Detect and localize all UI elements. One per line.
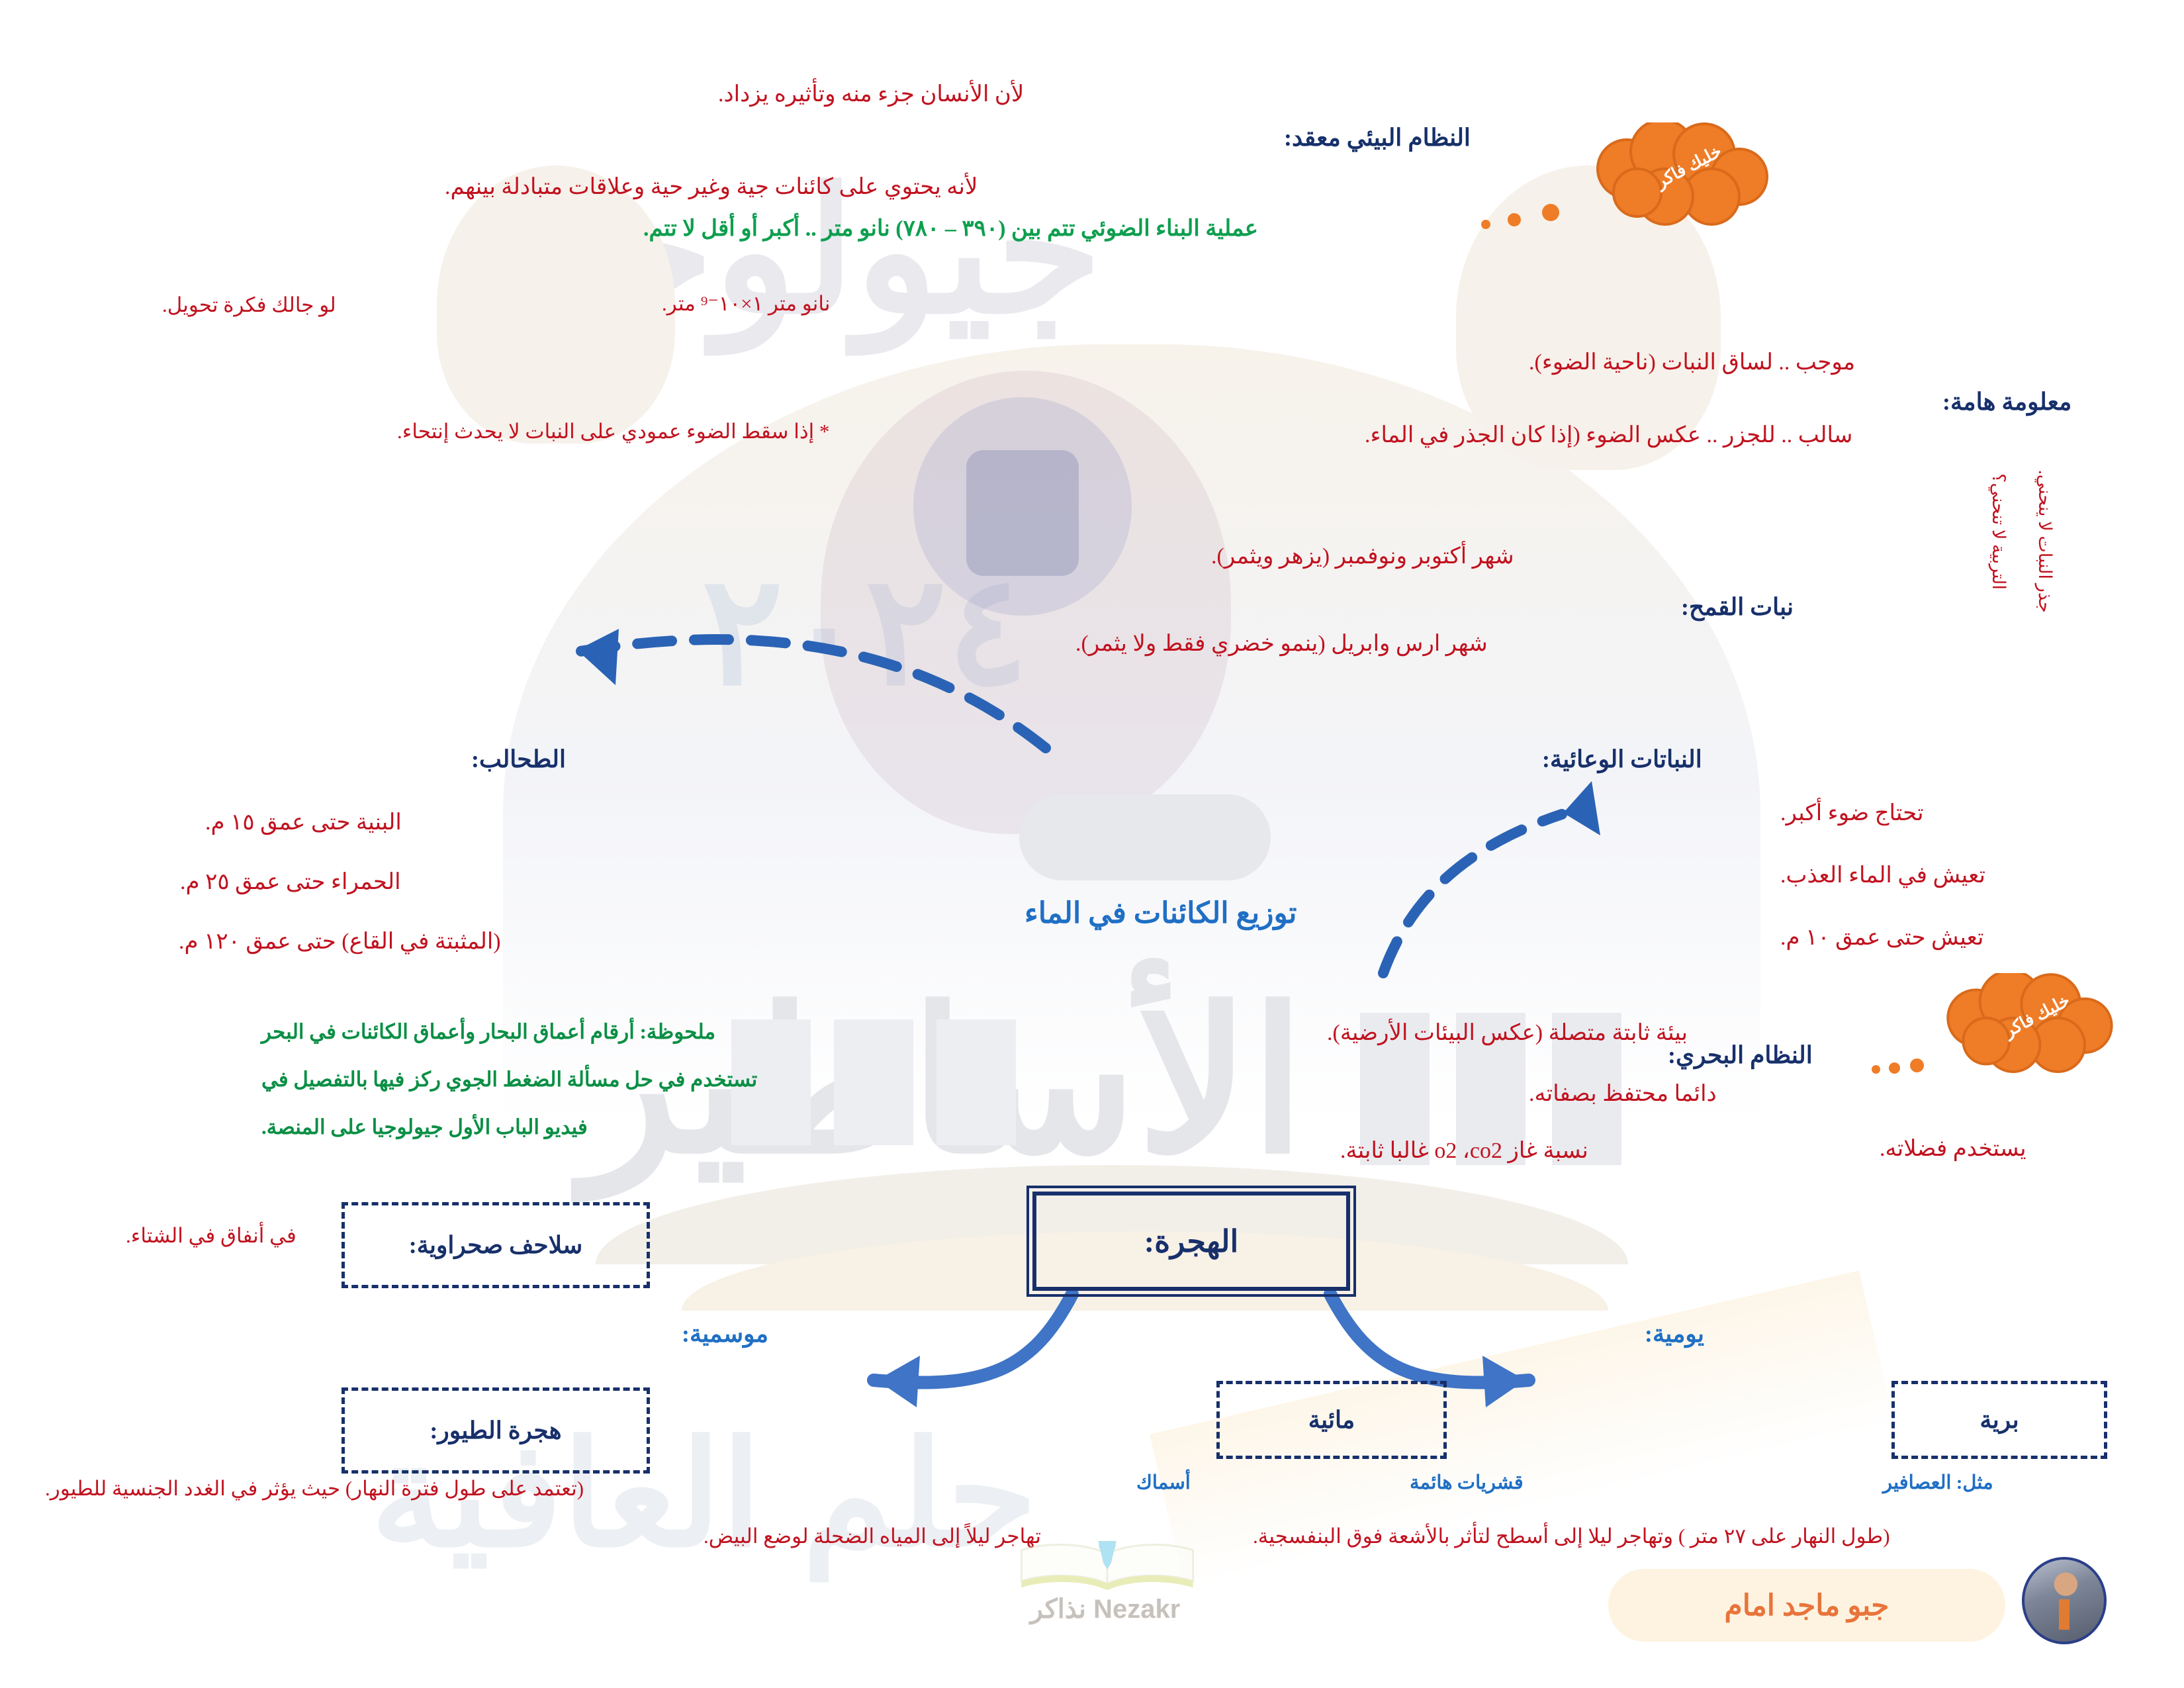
nezakr-logo: Nezakr نذاكر [999,1523,1264,1675]
vascular-fresh-water: تعيش في الماء العذب. [1780,862,1985,890]
note-nanometer: نانو متر ١×١٠‏⁻⁹ متر. [662,291,831,317]
heading-important-info: معلومة هامة: [1942,387,2071,417]
avatar-tie [2059,1599,2070,1630]
author-avatar [2022,1557,2107,1644]
wheat-mar-apr: شهر ارس وابريل (ينمو خضري فقط ولا يثمر). [1075,630,1488,659]
label-seasonal-migration: موسمية: [682,1319,768,1349]
migration-title-label: الهجرة: [1144,1223,1239,1259]
example-aquatic-fish: أسماك [1136,1471,1191,1495]
example-terrestrial: مثل: العصافير [1883,1471,1993,1495]
box-terrestrial: برية [1891,1381,2107,1459]
box-desert-turtles: سلاحف صحراوية: [341,1202,650,1288]
algae-brown: البنية حتى عمق ١٥ م. [205,809,402,837]
heading-wheat-plant: نبات القمح: [1681,592,1794,622]
box-terrestrial-label: برية [1979,1406,2019,1434]
migration-title-box: الهجرة: [1032,1192,1350,1291]
rotated-note-education: التربية لا تنحني؟ [1988,473,2009,590]
cloud-badge-top: خليك فاكر [1582,122,1780,232]
marine-uses-waste: يستخدم فضلاته. [1880,1135,2026,1164]
box-desert-turtles-label: سلاحف صحراوية: [409,1231,583,1259]
open-book-icon [1011,1541,1203,1593]
page-root: جيولوجيا ٢٠٢٤ الأساطير حلم العافية لأن [0,0,2184,1688]
algae-red: الحمراء حتى عمق ٢٥ م. [180,868,401,897]
arrow-left-curve [516,616,1059,774]
info-positive-stem: موجب .. لساق النبات (ناحية الضوء). [1529,349,1855,377]
nezakr-logo-text: Nezakr نذاكر [999,1594,1211,1624]
note-human-part: لأن الأنسان جزء منه وتأثيره يزداد. [718,81,1024,109]
arrow-right-curve [1363,774,1648,986]
green-note-line-1: ملحوظة: أرقام أعماق البحار وأعماق الكائن… [261,1019,715,1045]
cloud-dots-top [1481,199,1587,238]
background-watermark: جيولوجيا ٢٠٢٤ الأساطير حلم العافية [0,0,2184,1688]
nezakr-latin: Nezakr [1093,1595,1180,1624]
info-negative-root: سالب .. للجزر .. عكس الضوء (إذا كان الجذ… [1365,422,1852,450]
author-chip: جبو ماجد امام [1608,1569,2005,1642]
heading-vascular-plants: النباتات الوعائية: [1542,745,1702,774]
vascular-depth: تعيش حتى عمق ١٠ م. [1780,924,1983,953]
box-aquatic: مائية [1216,1381,1447,1459]
note-bird-migration: (تعتمد على طول فترة النهار) حيث يؤثر في … [45,1476,584,1502]
bottom-note-uv: (طول النهار على ٢٧ متر ) وتهاجر ليلا إلى… [1253,1524,1890,1550]
marine-stable-env: بيئة ثابتة متصلة (عكس البيئات الأرضية). [1327,1019,1688,1048]
cloud-dots-marine [1872,1056,1944,1082]
box-aquatic-label: مائية [1308,1406,1355,1434]
nezakr-arabic: نذاكر [1030,1595,1086,1624]
label-daily-migration: يومية: [1645,1319,1704,1349]
rotated-note-root: جذر النبات لا ينحني. [2034,470,2055,613]
note-ecosystem-reason: لأنه يحتوي على كائنات جية وغير حية وعلاق… [445,173,978,202]
green-note-line-2: تستخدم في حل مسألة الضغط الجوي ركز فيها … [261,1067,757,1093]
box-bird-migration-label: هجرة الطيور: [430,1417,561,1444]
cloud-badge-marine: خليك فاكر [1933,973,2124,1079]
author-name: جبو ماجد امام [1725,1589,1889,1622]
heading-ecosystem-complex: النظام البيئي معقد: [1284,123,1471,153]
marine-keeps-properties: دائما محتفظ بصفاته. [1529,1080,1717,1109]
example-aquatic-crustaceans: قشريات هائمة [1410,1471,1524,1495]
vascular-more-light: تحتاج ضوء أكبر. [1780,800,1924,828]
note-desert-turtles: في أنفاق في الشتاء. [126,1223,296,1249]
note-conversion-hint: لو جالك فكرة تحويل. [162,293,336,318]
heading-algae: الطحالب: [471,745,566,774]
note-photosynthesis-range: عملية البناء الضوئي تتم بين (٣٩٠ – ٧٨٠) … [643,215,1258,244]
center-title: توزيع الكائنات في الماء [1024,895,1297,931]
wheat-oct-nov: شهر أكتوبر ونوفمبر (يزهر ويثمر). [1211,543,1514,571]
note-vertical-light: * إذا سقط الضوء عمودي على النبات لا يحدث… [397,419,830,445]
algae-bottom-fixed: (المثبتة في القاع) حتى عمق ١٢٠ م. [179,928,501,957]
box-bird-migration: هجرة الطيور: [341,1387,650,1474]
green-note-line-3: فيديو الباب الأول جيولوجيا على المنصة. [261,1115,588,1141]
bottom-note-shallow: تهاجر ليلاً إلى المياه الضحلة لوضع البيض… [704,1524,1041,1550]
marine-gas-ratio: نسبة غاز o2 ،co2 غالبا ثابتة. [1340,1137,1588,1166]
arrow-migration-to-seasonal [814,1284,1092,1410]
heading-marine-system: النظام البحري: [1668,1041,1813,1070]
